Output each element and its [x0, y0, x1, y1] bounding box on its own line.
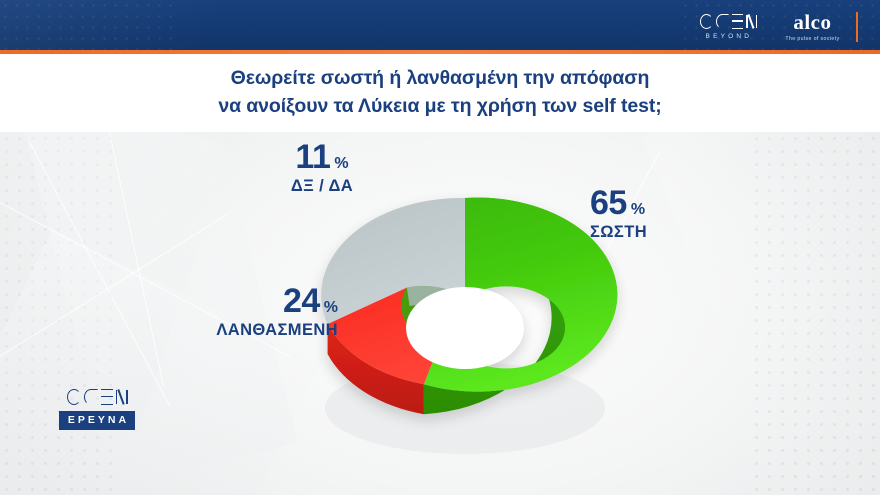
open-beyond-logo: BEYOND	[700, 14, 771, 40]
watermark-badge: ΕΡΕΥΝΑ	[59, 411, 135, 430]
logo-divider	[856, 12, 859, 42]
open-logo-wordmark	[700, 14, 757, 29]
open-logo-subtitle: BEYOND	[706, 33, 753, 40]
header-sheen	[0, 0, 398, 50]
donut-hole-rim	[408, 288, 522, 364]
callout-swsti-value: 65	[590, 186, 627, 220]
letter-n-glyph-icon	[746, 15, 757, 28]
callout-lanthasmeni-value-row: 24 %	[178, 284, 338, 318]
letter-p-glyph-icon	[716, 14, 729, 29]
callout-lanthasmeni-value: 24	[283, 284, 320, 318]
letter-o-glyph-icon	[700, 14, 713, 29]
callout-dx-da-value: 11	[295, 140, 330, 174]
callout-lanthasmeni: 24 % ΛΑΝΘΑΣΜΕΝΗ	[178, 284, 338, 340]
watermark-open-wordmark	[47, 389, 147, 405]
callout-dx-da-label: ΔΞ / ΔΑ	[262, 177, 382, 196]
alco-logo-wordmark: alco	[793, 12, 831, 33]
chart-stage: ΕΡΕΥΝΑ	[0, 132, 880, 495]
bg-polygon-4	[642, 132, 880, 414]
callout-swsti: 65 % ΣΩΣΤΗ	[590, 186, 647, 242]
letter-p-glyph-icon	[84, 389, 98, 405]
callout-dx-da: 11 % ΔΞ / ΔΑ	[262, 140, 382, 196]
open-erevna-watermark: ΕΡΕΥΝΑ	[47, 389, 147, 430]
callout-swsti-percent-sign: %	[631, 201, 645, 219]
title-band: Θεωρείτε σωστή ή λανθασμένη την απόφαση …	[0, 54, 880, 132]
callout-swsti-label: ΣΩΣΤΗ	[590, 223, 647, 242]
callout-swsti-value-row: 65 %	[590, 186, 647, 220]
page-title: Θεωρείτε σωστή ή λανθασμένη την απόφαση …	[218, 65, 661, 120]
letter-e-glyph-icon	[732, 14, 743, 29]
callout-lanthasmeni-percent-sign: %	[324, 299, 338, 317]
header-logos: BEYOND alco The pulse of society	[700, 11, 858, 43]
callout-lanthasmeni-label: ΛΑΝΘΑΣΜΕΝΗ	[178, 321, 338, 340]
letter-n-glyph-icon	[116, 390, 128, 404]
letter-e-glyph-icon	[101, 389, 113, 405]
header-bar: BEYOND alco The pulse of society	[0, 0, 880, 50]
callout-dx-da-value-row: 11 %	[262, 140, 382, 174]
title-line-1: Θεωρείτε σωστή ή λανθασμένη την απόφαση	[218, 65, 661, 93]
callout-dx-da-percent-sign: %	[334, 155, 348, 173]
slide-root: BEYOND alco The pulse of society Θεωρείτ…	[0, 0, 880, 495]
alco-logo: alco The pulse of society	[771, 12, 855, 42]
alco-logo-tagline: The pulse of society	[785, 36, 839, 42]
letter-o-glyph-icon	[67, 389, 81, 405]
title-line-2: να ανοίξουν τα Λύκεια με τη χρήση των se…	[218, 93, 661, 121]
